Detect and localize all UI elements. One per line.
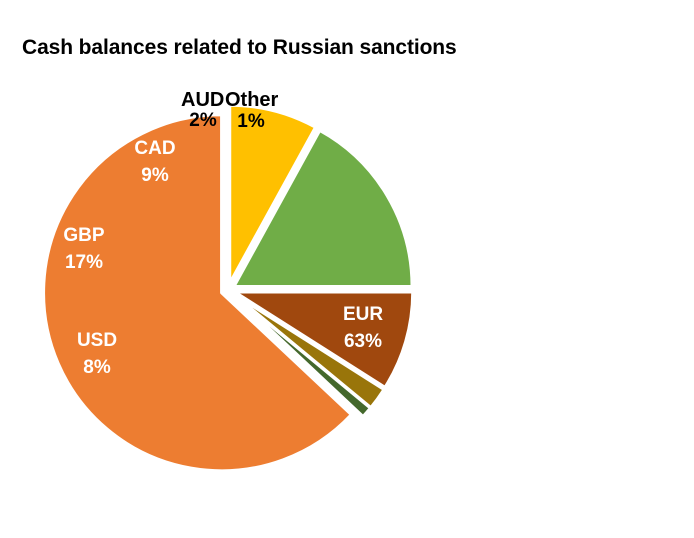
slice-label-aud-name: AUD <box>181 89 224 112</box>
pie-chart-figure: Cash balances related to Russian sanctio… <box>0 0 694 538</box>
pie-slices-group <box>44 105 413 471</box>
slice-label-other-name: Other <box>225 89 278 112</box>
slice-label-other-value: 1% <box>237 111 265 132</box>
slice-label-aud-value: 2% <box>189 110 217 131</box>
slice-label-usd-value: 8% <box>83 357 111 378</box>
slice-label-gbp-name: GBP <box>63 225 105 246</box>
slice-label-cad-value: 9% <box>141 165 169 186</box>
slice-label-eur-name: EUR <box>343 304 383 325</box>
pie-chart-canvas: EUR 63% USD 8% GBP 17% CAD 9% 2% 1% <box>0 0 694 538</box>
slice-label-usd-name: USD <box>77 330 117 351</box>
slice-label-gbp-value: 17% <box>65 252 103 273</box>
slice-label-cad-name: CAD <box>134 138 175 159</box>
slice-label-eur-value: 63% <box>344 331 382 352</box>
